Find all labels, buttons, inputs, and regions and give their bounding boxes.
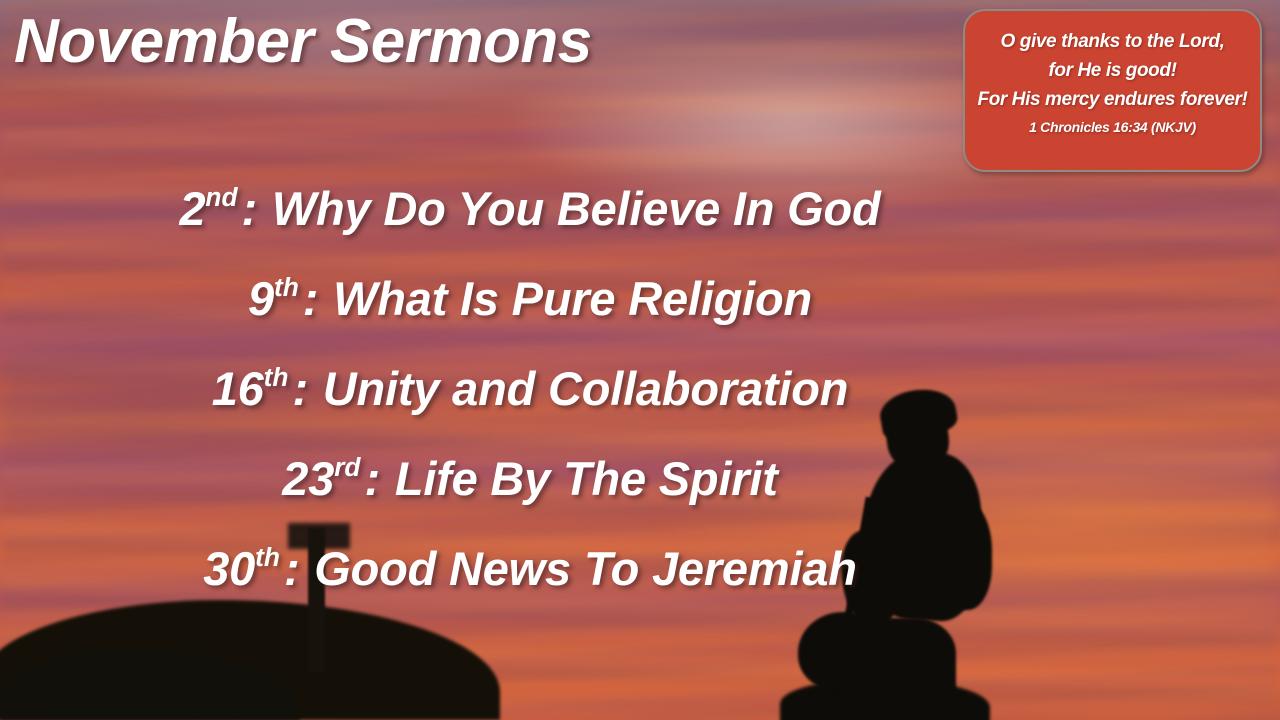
verse-line: for He is good! xyxy=(965,56,1260,85)
sermon-title: Unity and Collaboration xyxy=(323,362,848,415)
sermon-list-item: 23rd: Life By The Spirit xyxy=(0,428,1060,518)
sermon-separator: : xyxy=(299,272,320,325)
sermon-title: What Is Pure Religion xyxy=(333,272,812,325)
sermon-day: 30 xyxy=(203,542,255,595)
sermon-day: 9 xyxy=(248,272,274,325)
sermon-separator: : xyxy=(280,542,301,595)
sermon-ordinal: nd xyxy=(205,182,237,212)
verse-line: O give thanks to the Lord, xyxy=(965,27,1260,56)
verse-card: O give thanks to the Lord, for He is goo… xyxy=(963,9,1262,172)
sermon-ordinal: th xyxy=(264,362,289,392)
verse-reference: 1 Chronicles 16:34 (NKJV) xyxy=(965,116,1260,138)
sermon-ordinal: th xyxy=(255,542,280,572)
sermon-title: Why Do You Believe In God xyxy=(272,182,881,235)
sermon-slide: November Sermons 2nd: Why Do You Believe… xyxy=(0,0,1280,720)
sermon-title: Good News To Jeremiah xyxy=(314,542,857,595)
sermon-ordinal: th xyxy=(274,272,299,302)
sermon-list-item: 9th: What Is Pure Religion xyxy=(0,248,1060,338)
sermon-day: 16 xyxy=(212,362,264,415)
sermon-list-item: 30th: Good News To Jeremiah xyxy=(0,518,1060,608)
sermon-title: Life By The Spirit xyxy=(395,452,778,505)
verse-line: For His mercy endures forever! xyxy=(965,85,1260,114)
sermon-separator: : xyxy=(288,362,309,415)
sermon-separator: : xyxy=(238,182,259,235)
soldier-leg xyxy=(836,618,956,720)
sermon-list-item: 16th: Unity and Collaboration xyxy=(0,338,1060,428)
page-title: November Sermons xyxy=(14,6,592,77)
sermon-list-item: 2nd: Why Do You Believe In God xyxy=(0,158,1060,248)
sermon-day: 2 xyxy=(179,182,205,235)
sermon-separator: : xyxy=(361,452,382,505)
sermon-ordinal: rd xyxy=(334,452,360,482)
sermon-list: 2nd: Why Do You Believe In God 9th: What… xyxy=(0,158,1060,608)
sermon-day: 23 xyxy=(282,452,334,505)
